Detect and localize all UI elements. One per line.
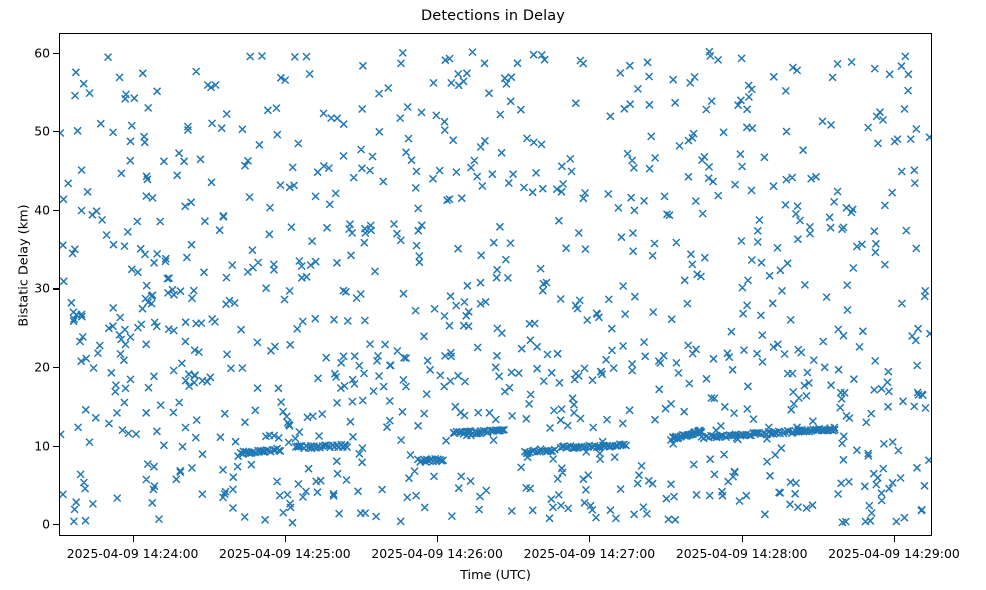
x-tick-mark <box>589 536 590 542</box>
y-tick-label: 50 <box>6 124 50 139</box>
x-tick-label: 2025-04-09 14:26:00 <box>371 546 503 561</box>
x-tick-mark <box>437 536 438 542</box>
x-tick-mark <box>133 536 134 542</box>
scatter-marker-layer <box>60 34 932 536</box>
x-axis-label: Time (UTC) <box>59 568 932 583</box>
plot-area <box>59 33 932 536</box>
x-tick-label: 2025-04-09 14:25:00 <box>219 546 351 561</box>
figure-canvas: Detections in Delay Bistatic Delay (km) … <box>0 0 986 590</box>
y-tick-label: 60 <box>6 45 50 60</box>
y-tick-label: 0 <box>6 517 50 532</box>
x-tick-mark <box>285 536 286 542</box>
x-tick-mark <box>894 536 895 542</box>
chart-title: Detections in Delay <box>0 8 986 24</box>
x-tick-label: 2025-04-09 14:29:00 <box>828 546 960 561</box>
x-tick-label: 2025-04-09 14:24:00 <box>67 546 199 561</box>
y-tick-label: 40 <box>6 202 50 217</box>
y-axis-tick-labels: 0102030405060 <box>0 0 50 590</box>
x-tick-label: 2025-04-09 14:27:00 <box>524 546 656 561</box>
x-tick-label: 2025-04-09 14:28:00 <box>676 546 808 561</box>
x-tick-mark <box>742 536 743 542</box>
scatter-points <box>60 48 932 526</box>
y-tick-label: 30 <box>6 281 50 296</box>
y-tick-label: 10 <box>6 438 50 453</box>
y-tick-label: 20 <box>6 360 50 375</box>
